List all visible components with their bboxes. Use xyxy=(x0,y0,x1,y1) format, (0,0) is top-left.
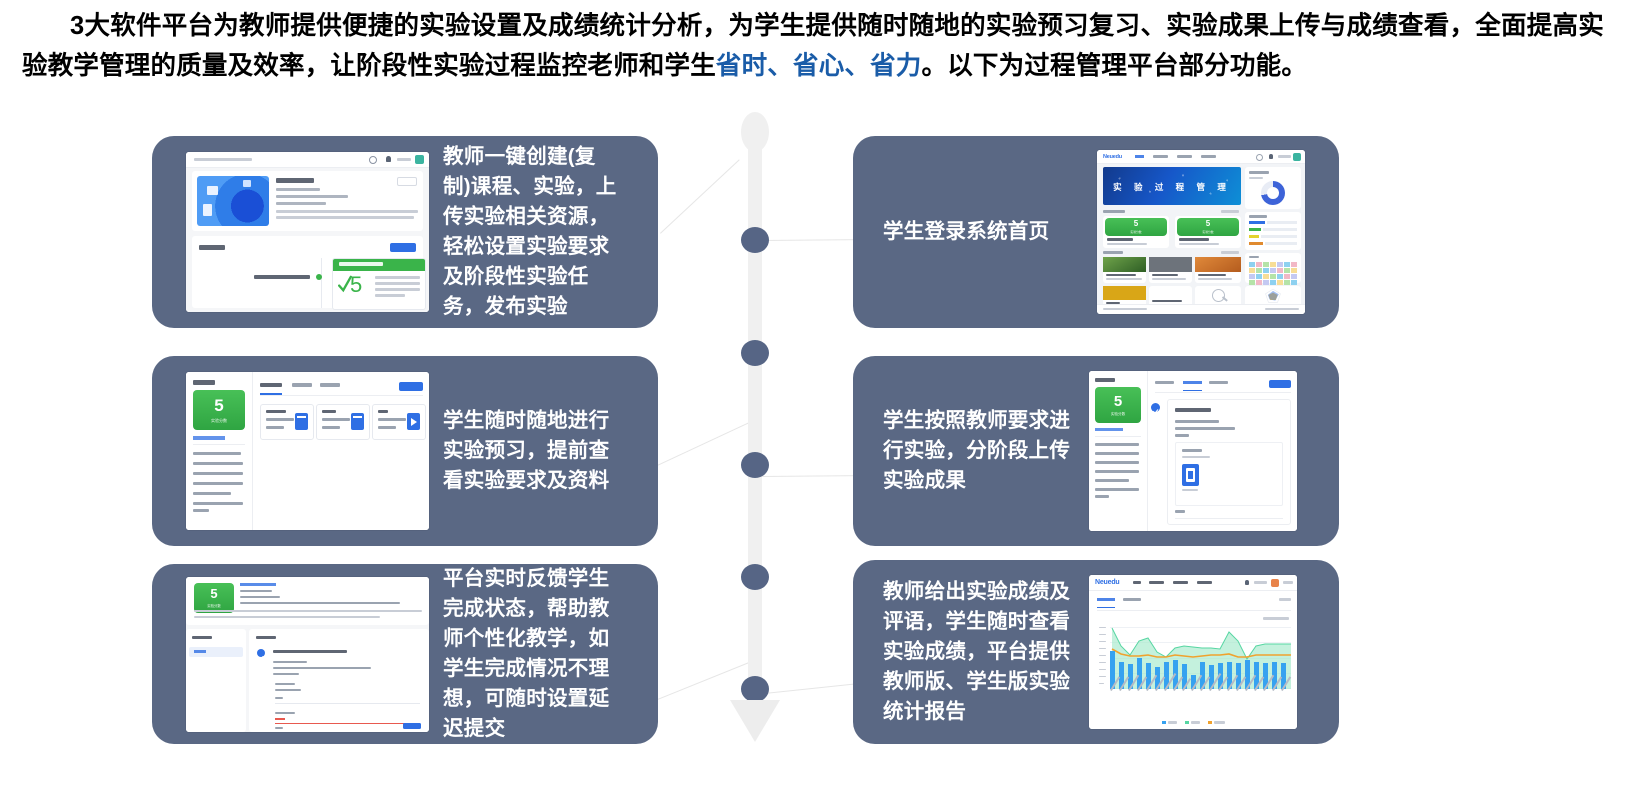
experiment-desc-line1 xyxy=(375,276,420,279)
tab-resources[interactable] xyxy=(1155,381,1174,384)
score-value: 5 xyxy=(214,397,223,414)
sidebar-field-3 xyxy=(193,482,243,485)
screenshot-stage-submission: 5 实验分数 xyxy=(1089,371,1297,531)
timeline-dot-5 xyxy=(741,676,769,702)
caption-grade-report: 教师给出实验成绩及评语，学生随时查看实验成绩，平台提供教师版、学生版实验统计报告 xyxy=(883,577,1079,727)
connector-line-6 xyxy=(755,683,860,695)
brand-logo: Neuedu xyxy=(1103,154,1122,160)
sidebar-title xyxy=(193,380,215,385)
sidebar-field-0 xyxy=(193,452,241,455)
sidebar-field-2 xyxy=(1095,461,1139,464)
resource-time xyxy=(378,418,406,421)
score-badge: 5 实验分数 xyxy=(193,390,245,430)
media-title xyxy=(1152,300,1182,302)
intro-highlight: 省时、省心、省力 xyxy=(716,52,922,80)
screenshot-experiment-preview: 5 实验分数 xyxy=(186,372,429,530)
nav-item-courses[interactable] xyxy=(1149,581,1164,584)
avatar[interactable] xyxy=(1271,579,1279,587)
section-more-link-2[interactable] xyxy=(1221,251,1239,254)
app-top-bar xyxy=(186,152,429,168)
user-name xyxy=(1254,581,1267,584)
new-experiment-button[interactable] xyxy=(390,243,416,252)
tab-stage-submit[interactable] xyxy=(1183,381,1202,384)
student-list-item[interactable] xyxy=(189,647,243,657)
brand-logo: Neuedu xyxy=(1095,579,1119,586)
course-score-badge: 5 实验分数 xyxy=(1105,218,1167,236)
submission-desc xyxy=(273,667,371,670)
file-thumbnail-icon[interactable] xyxy=(1182,464,1199,486)
footer-copyright xyxy=(1103,308,1147,310)
resource-card[interactable] xyxy=(316,404,370,440)
connector-line-1 xyxy=(660,159,740,233)
tab-bar[interactable] xyxy=(260,382,423,395)
intro-paragraph: 3大软件平台为教师提供便捷的实验设置及成绩统计分析，为学生提供随时随地的实验预习… xyxy=(22,6,1604,86)
stat-bar-green xyxy=(1249,228,1261,231)
sidebar-requirement-link[interactable] xyxy=(193,436,225,440)
sidebar-field-3 xyxy=(1095,470,1139,473)
doc-icon xyxy=(295,413,308,430)
sidebar-field-2 xyxy=(193,472,243,475)
stat-bar-track xyxy=(1267,221,1297,224)
back-button[interactable] xyxy=(1269,380,1291,388)
score-value: 5 xyxy=(1114,394,1122,409)
media-card[interactable] xyxy=(1149,257,1192,283)
caption-realtime-feedback: 平台实时反馈学生完成状态，帮助教师个性化教学，如学生完成情况不理想，可随时设置延… xyxy=(443,564,623,744)
form-label-sub xyxy=(275,697,283,700)
tab-bar[interactable] xyxy=(1155,380,1291,392)
course-title xyxy=(276,178,314,183)
course-card-meta xyxy=(1179,243,1219,245)
timeline-dot-2 xyxy=(741,340,769,366)
avatar[interactable] xyxy=(415,155,424,164)
score-sub: 实验分数 xyxy=(1111,412,1125,417)
experiment-desc-line3 xyxy=(375,288,420,291)
sidebar-requirement-link[interactable] xyxy=(1095,428,1123,431)
stat-bar-yellow xyxy=(1249,235,1259,238)
form-label-extra xyxy=(275,727,283,730)
resource-time xyxy=(322,418,350,421)
resource-time xyxy=(266,418,294,421)
error-underline xyxy=(275,723,420,724)
sidebar-title xyxy=(1095,378,1115,382)
nav-item-courses[interactable] xyxy=(1153,155,1168,158)
timeline-bar xyxy=(748,130,762,718)
card-student-home[interactable]: 学生登录系统首页 Neuedu 实 验 过 程 管 理 5 实验分数 xyxy=(853,136,1339,328)
right-rail-calendar xyxy=(1245,253,1301,283)
form-label-score xyxy=(275,683,295,686)
score-badge: 5 实验分数 xyxy=(194,583,234,613)
video-icon xyxy=(407,413,420,430)
score-sub: 实验分数 xyxy=(207,603,221,608)
search-icon[interactable] xyxy=(369,156,377,164)
experiment-desc-line4 xyxy=(375,294,405,297)
form-label-comment xyxy=(275,712,295,715)
experiment-sidebar: 5 实验分数 xyxy=(1089,371,1148,531)
card-realtime-feedback[interactable]: 5 实验分数 xyxy=(152,564,658,744)
caption-stage-upload: 学生按照教师要求进行实验，分阶段上传实验成果 xyxy=(883,406,1079,496)
field-exp-time xyxy=(240,602,400,605)
card-student-preview[interactable]: 5 实验分数 xyxy=(152,356,658,546)
media-meta xyxy=(1152,278,1186,280)
media-title xyxy=(1198,274,1226,276)
field-creator xyxy=(276,188,320,191)
right-rail-completion xyxy=(1245,167,1301,209)
course-summary-card xyxy=(192,171,423,231)
nav-item-home[interactable] xyxy=(1135,155,1144,158)
right-rail-stats xyxy=(1245,212,1301,250)
nav-item-reports[interactable] xyxy=(1201,155,1216,158)
timeline-head-cap xyxy=(741,112,769,152)
course-cover-image xyxy=(197,176,269,226)
media-thumb-gray xyxy=(1149,257,1192,272)
media-thumb-green xyxy=(1103,257,1146,272)
back-button[interactable] xyxy=(399,382,423,391)
course-card-title xyxy=(1107,238,1133,241)
student-list-panel xyxy=(186,629,246,732)
radar-chart xyxy=(1261,288,1285,304)
card-stage-upload[interactable]: 学生按照教师要求进行实验，分阶段上传实验成果 5 实验分数 xyxy=(853,356,1339,546)
resource-title xyxy=(266,410,286,413)
experiment-sidebar: 5 实验分数 xyxy=(186,372,253,530)
field-desc-line2 xyxy=(194,616,380,619)
resource-card[interactable] xyxy=(260,404,314,440)
media-card[interactable] xyxy=(1195,257,1241,283)
media-thumb-orange xyxy=(1195,257,1241,272)
tab-stage-submit[interactable] xyxy=(292,383,312,387)
legend-item-average[interactable] xyxy=(1208,721,1225,724)
course-score-badge: 5 实验分数 xyxy=(1177,218,1239,236)
caption-student-preview: 学生随时随地进行实验预习，提前查看实验要求及资料 xyxy=(443,406,621,496)
chart-toolbar-icons[interactable] xyxy=(1263,617,1289,620)
timeline-arrow-icon xyxy=(730,700,780,742)
input-field[interactable] xyxy=(275,703,420,704)
score-badge: 5 实验分数 xyxy=(1095,387,1141,423)
stat-bar-track xyxy=(1261,235,1297,238)
resource-title xyxy=(322,410,336,413)
upload-label xyxy=(1182,449,1202,452)
upload-hint xyxy=(1182,456,1210,458)
submit-button[interactable] xyxy=(403,723,421,729)
badge-sub: 实验分数 xyxy=(1130,230,1141,234)
chart-legend[interactable] xyxy=(1089,721,1297,724)
sidebar-field-0 xyxy=(1095,443,1139,446)
experiment-date xyxy=(254,275,310,279)
field-create-time xyxy=(276,195,348,198)
stats-title xyxy=(1249,215,1267,218)
experiment-mini-card[interactable]: 5 xyxy=(332,258,426,310)
sidebar-field-5b xyxy=(1095,495,1109,498)
app-top-bar: Neuedu xyxy=(1097,150,1305,164)
stat-bar-track xyxy=(1263,228,1297,231)
field-creator xyxy=(240,590,272,593)
score-sub: 实验分数 xyxy=(211,418,227,424)
user-name xyxy=(1278,155,1291,158)
resource-size xyxy=(378,426,396,429)
submission-attachment xyxy=(273,673,299,676)
experiment-list-panel: 5 xyxy=(192,236,423,308)
sidebar-field-1 xyxy=(1095,452,1139,455)
stage-check-icon xyxy=(1151,403,1160,412)
doc-icon xyxy=(351,413,364,430)
experiment-header-card: 5 实验分数 xyxy=(186,577,429,625)
upload-area[interactable] xyxy=(1175,442,1283,506)
screenshot-course-detail: 5 xyxy=(186,152,429,312)
file-name xyxy=(1182,489,1198,491)
sidebar-field-5b xyxy=(193,509,209,512)
validation-text xyxy=(275,718,285,721)
nav-item-experiments[interactable] xyxy=(1173,581,1188,584)
calendar-grid[interactable] xyxy=(1249,262,1297,285)
stat-bar-track xyxy=(1265,242,1297,245)
section-more-link[interactable] xyxy=(1221,210,1239,213)
apply-button[interactable] xyxy=(397,177,417,186)
avatar[interactable] xyxy=(1293,153,1301,161)
stat-bar-blue xyxy=(1249,221,1265,224)
bell-icon[interactable] xyxy=(1245,580,1249,585)
nav-item-home[interactable] xyxy=(1133,581,1141,584)
grade-analysis-chart xyxy=(1099,627,1291,699)
resource-card[interactable] xyxy=(372,404,426,440)
field-direction xyxy=(276,202,326,205)
export-button[interactable] xyxy=(1279,598,1291,601)
timeline-node-icon xyxy=(316,274,322,280)
app-top-bar: Neuedu xyxy=(1089,575,1297,591)
badge-value: 5 xyxy=(1206,220,1210,228)
badge-value: 5 xyxy=(1134,220,1138,228)
footer-links[interactable] xyxy=(1265,308,1299,310)
tab-grade-analysis[interactable] xyxy=(1097,598,1115,601)
stat-bar-orange xyxy=(1249,242,1263,245)
stage-panel xyxy=(1167,399,1291,525)
chart-plot-area xyxy=(1110,627,1291,689)
tab-resources[interactable] xyxy=(260,383,282,387)
resource-size xyxy=(322,426,340,429)
screenshot-statistics-report: Neuedu xyxy=(1089,575,1297,729)
nav-item-reports[interactable] xyxy=(1197,581,1212,584)
media-card[interactable] xyxy=(1103,257,1146,283)
section-title-experiment-list xyxy=(199,245,225,250)
experiment-title xyxy=(240,583,276,586)
screenshot-submission-review: 5 实验分数 xyxy=(186,577,429,732)
progress-label xyxy=(1249,177,1263,179)
section-title-my-courses xyxy=(1103,210,1125,213)
submission-detail-panel xyxy=(249,629,429,732)
logout-link[interactable] xyxy=(1283,581,1293,584)
timeline-dot-4 xyxy=(741,564,769,590)
comment-input[interactable] xyxy=(1175,518,1283,519)
media-meta xyxy=(1106,278,1142,280)
form-value-score xyxy=(275,689,301,692)
course-card[interactable]: 5 实验分数 xyxy=(1175,216,1241,248)
course-card-title xyxy=(1179,238,1209,241)
sidebar-field-4 xyxy=(1095,479,1129,482)
tab-final-result[interactable] xyxy=(1209,381,1228,384)
media-title xyxy=(1106,274,1136,276)
course-card[interactable]: 5 实验分数 xyxy=(1103,216,1169,248)
stage-requirement xyxy=(1175,427,1235,430)
sidebar-field-5 xyxy=(193,502,243,505)
legend-item-score[interactable] xyxy=(1162,721,1177,724)
timeline-dot-3 xyxy=(741,452,769,478)
completion-donut-chart xyxy=(1261,181,1285,205)
card-teacher-create[interactable]: 5 教师一键创建(复制)课程、实验，上传实验相关资源，轻松设置实验要求及阶段性实… xyxy=(152,136,658,328)
timeline-dot-1 xyxy=(741,227,769,253)
y-axis-ticks xyxy=(1099,627,1108,689)
hero-banner: 实 验 过 程 管 理 xyxy=(1103,167,1241,205)
media-title xyxy=(1152,274,1178,276)
tab-experiment-stats[interactable] xyxy=(1123,598,1141,601)
connector-line-2 xyxy=(755,239,860,241)
experiment-score: 5 xyxy=(350,272,362,298)
media-meta xyxy=(1198,278,1232,280)
connector-line-4 xyxy=(755,475,860,477)
intro-text-part2: 。以下为过程管理平台部分功能。 xyxy=(922,52,1308,80)
field-description-line1 xyxy=(276,210,418,213)
hero-banner-title: 实 验 过 程 管 理 xyxy=(1103,181,1241,193)
user-name xyxy=(397,158,411,161)
submission-title xyxy=(273,650,347,654)
stage-deadline xyxy=(1175,420,1219,423)
badge-sub: 实验分数 xyxy=(1202,230,1213,234)
completion-title xyxy=(1249,171,1269,174)
bell-icon[interactable] xyxy=(386,156,391,162)
card-grade-report[interactable]: 教师给出实验成绩及评语，学生随时查看实验成绩，平台提供教师版、学生版实验统计报告… xyxy=(853,560,1339,744)
stage-title xyxy=(1175,408,1211,412)
field-desc-line1 xyxy=(194,610,422,613)
search-illustration-handle xyxy=(1222,296,1228,301)
media-thumb-yellow xyxy=(1103,286,1146,300)
submission-time xyxy=(273,661,307,664)
tab-final-result[interactable] xyxy=(320,383,340,387)
breadcrumb xyxy=(194,158,252,161)
section-title-recommended xyxy=(1103,251,1123,254)
sidebar-field-1 xyxy=(193,462,243,465)
stage-score xyxy=(1175,434,1189,437)
resource-title xyxy=(378,410,388,413)
field-description-line2 xyxy=(276,216,414,219)
caption-student-home: 学生登录系统首页 xyxy=(883,217,1083,247)
experiment-desc-line2 xyxy=(375,282,420,285)
course-card-meta xyxy=(1107,243,1147,245)
nav-item-experiments[interactable] xyxy=(1177,155,1192,158)
bell-icon[interactable] xyxy=(1269,154,1273,159)
calendar-title xyxy=(1249,256,1259,258)
field-create-time xyxy=(240,596,280,599)
resource-size xyxy=(266,426,284,429)
status-check-icon xyxy=(257,649,265,657)
screenshot-student-dashboard: Neuedu 实 验 过 程 管 理 5 实验分数 xyxy=(1097,150,1305,314)
search-icon[interactable] xyxy=(1256,154,1263,161)
caption-teacher-create: 教师一键创建(复制)课程、实验，上传实验相关资源，轻松设置实验要求及阶段性实验任… xyxy=(443,142,621,322)
student-name xyxy=(194,650,206,653)
comment-label xyxy=(1175,510,1185,513)
sidebar-field-5 xyxy=(1095,488,1139,491)
process-timeline xyxy=(741,112,769,732)
legend-item-completion[interactable] xyxy=(1185,721,1200,724)
panel-title-student-list xyxy=(192,636,212,640)
panel-title-submission xyxy=(256,636,276,640)
sidebar-field-4 xyxy=(193,492,231,495)
score-value: 5 xyxy=(210,587,217,600)
tab-bar[interactable] xyxy=(1097,597,1291,610)
x-axis-labels xyxy=(1110,690,1291,712)
